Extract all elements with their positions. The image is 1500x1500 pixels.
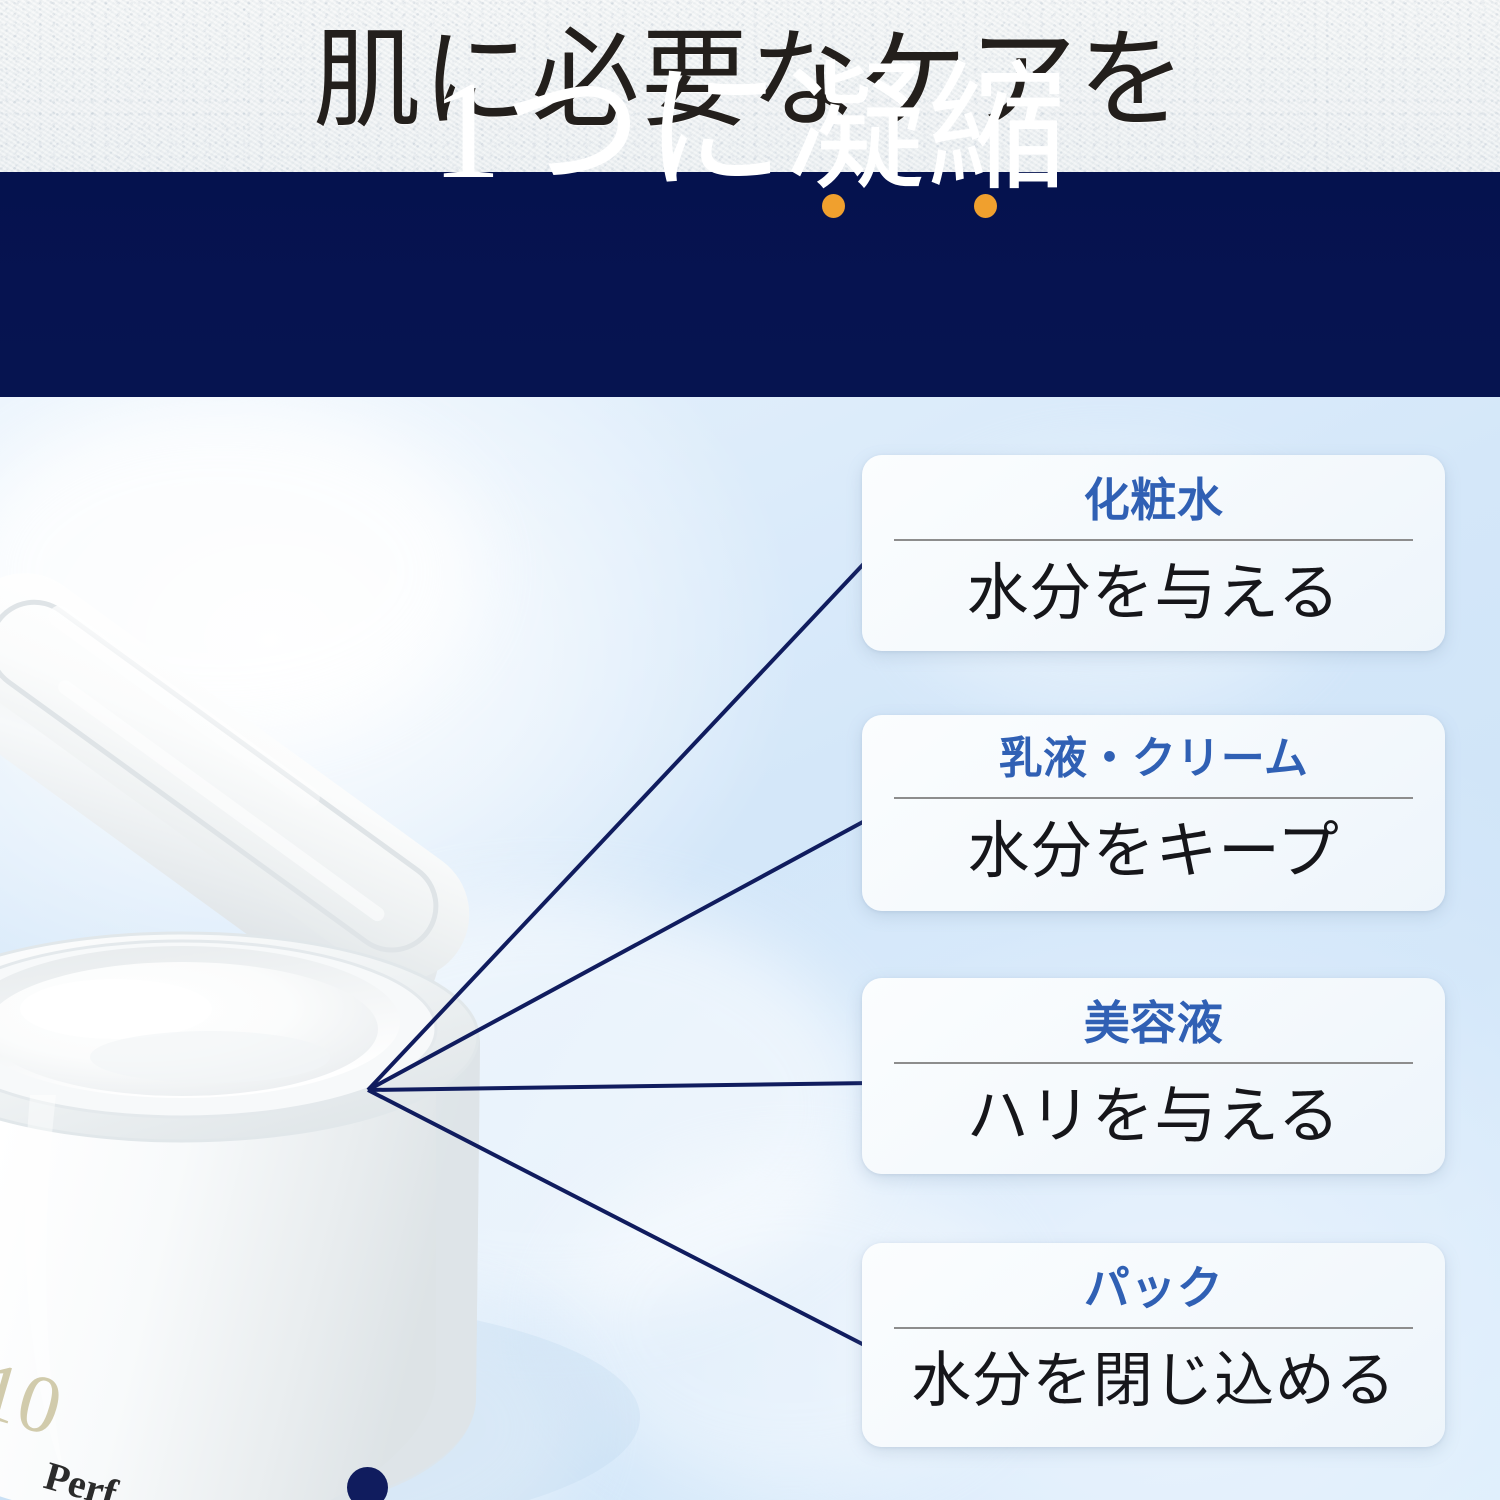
card-description: 水分をキープ bbox=[862, 799, 1445, 883]
card-description: ハリを与える bbox=[862, 1064, 1445, 1148]
product-jar-image: Q10 Perf bbox=[0, 517, 860, 1500]
advertisement-banner: 肌に必要なケアを 1つに凝縮 bbox=[0, 0, 1500, 1500]
benefit-card-serum[interactable]: 美容液 ハリを与える bbox=[862, 978, 1445, 1174]
card-title: 乳液・クリーム bbox=[862, 715, 1445, 781]
card-title: 美容液 bbox=[862, 978, 1445, 1046]
card-title: 化粧水 bbox=[862, 455, 1445, 523]
card-description: 水分を与える bbox=[862, 541, 1445, 625]
benefit-card-lotion[interactable]: 化粧水 水分を与える bbox=[862, 455, 1445, 651]
benefit-card-pack[interactable]: パック 水分を閉じ込める bbox=[862, 1243, 1445, 1447]
card-title: パック bbox=[862, 1243, 1445, 1311]
banner-headline: 1つに凝縮 bbox=[0, 54, 1500, 208]
benefit-card-emulsion-cream[interactable]: 乳液・クリーム 水分をキープ bbox=[862, 715, 1445, 911]
connector-hub-dot bbox=[347, 1467, 388, 1500]
card-description: 水分を閉じ込める bbox=[862, 1329, 1445, 1411]
